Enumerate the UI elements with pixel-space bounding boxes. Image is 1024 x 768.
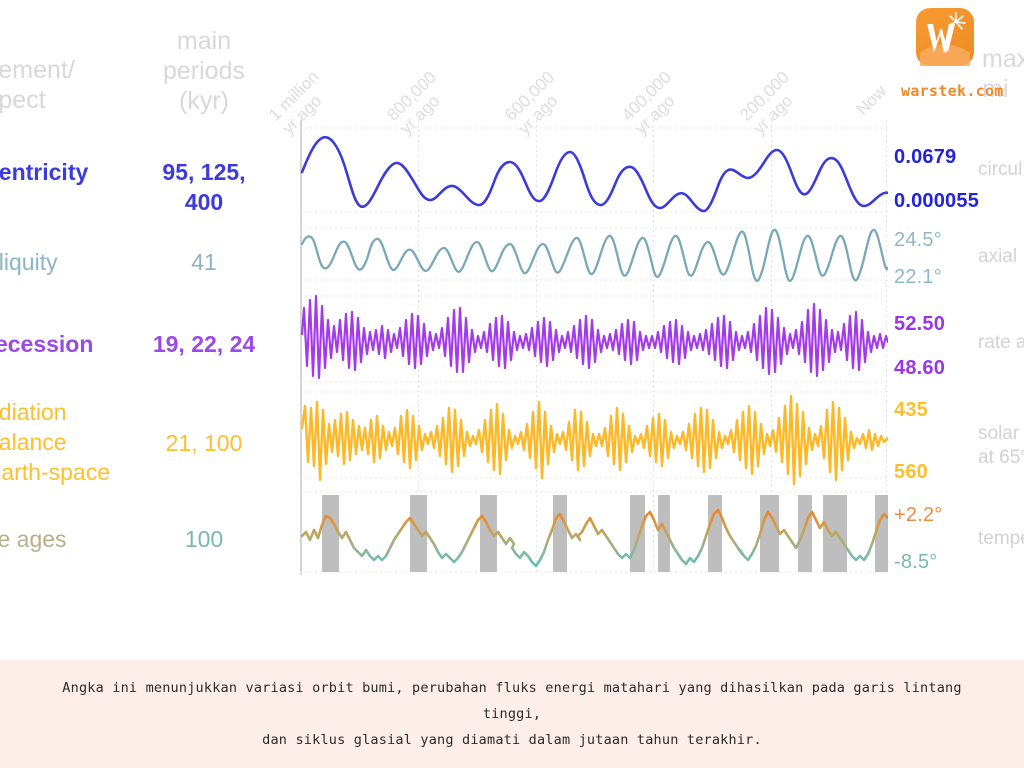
value-radiation-max: 435	[894, 399, 928, 422]
period-eccentricity: 95, 125, 400	[124, 157, 284, 217]
curve-precession	[302, 296, 888, 378]
caption-line-2: dan siklus glasial yang diamati dalam ju…	[262, 732, 762, 748]
value-eccentricity-max: 0.0679	[894, 146, 956, 169]
period-ice-ages: 100	[124, 524, 284, 554]
value-obliquity-min: 22.1°	[894, 266, 942, 289]
caption-text: Angka ini menunjukkan variasi orbit bumi…	[42, 675, 982, 753]
row-label-ice-ages: ce ages	[0, 524, 67, 554]
note-radiation-balance: solar f at 65°N i	[978, 422, 1024, 470]
caption-band: Angka ini menunjukkan variasi orbit bumi…	[0, 660, 1024, 768]
note-ice-ages: tempera	[978, 527, 1024, 551]
curve-obliquity	[302, 230, 888, 281]
time-tick-now: Now	[853, 82, 890, 119]
caption-line-1: Angka ini menunjukkan variasi orbit bumi…	[62, 680, 961, 722]
value-precession-max: 52.50	[894, 313, 945, 336]
value-eccentricity-min: 0.000055	[894, 190, 979, 213]
value-radiation-min: 560	[894, 461, 928, 484]
warstek-brand-text[interactable]: warstek.com	[901, 82, 1004, 100]
row-label-radiation-balance: adiation balance Earth-space	[0, 397, 110, 487]
warstek-logo-mark[interactable]	[916, 8, 974, 66]
note-obliquity: axial	[978, 245, 1024, 269]
row-label-obliquity: bliquity	[0, 247, 58, 277]
note-eccentricity: circul	[978, 158, 1024, 182]
row-label-precession: recession	[0, 329, 93, 359]
column-header-main-periods: main periods (kyr)	[140, 26, 268, 116]
infographic-page: ovement/ aspect main periods (kyr) max m…	[0, 0, 1024, 768]
period-radiation-balance: 21, 100	[124, 428, 284, 458]
milankovitch-plot-area	[300, 120, 888, 575]
period-precession: 19, 22, 24	[124, 329, 284, 359]
curve-radiation-balance	[302, 396, 888, 484]
value-ice-max: +2.2°	[894, 504, 942, 527]
note-precession: rate aro	[978, 331, 1024, 355]
curve-eccentricity	[302, 137, 888, 211]
value-obliquity-max: 24.5°	[894, 229, 942, 252]
row-label-eccentricity: centricity	[0, 157, 88, 187]
value-precession-min: 48.60	[894, 357, 945, 380]
value-ice-min: -8.5°	[894, 551, 937, 574]
period-obliquity: 41	[124, 247, 284, 277]
